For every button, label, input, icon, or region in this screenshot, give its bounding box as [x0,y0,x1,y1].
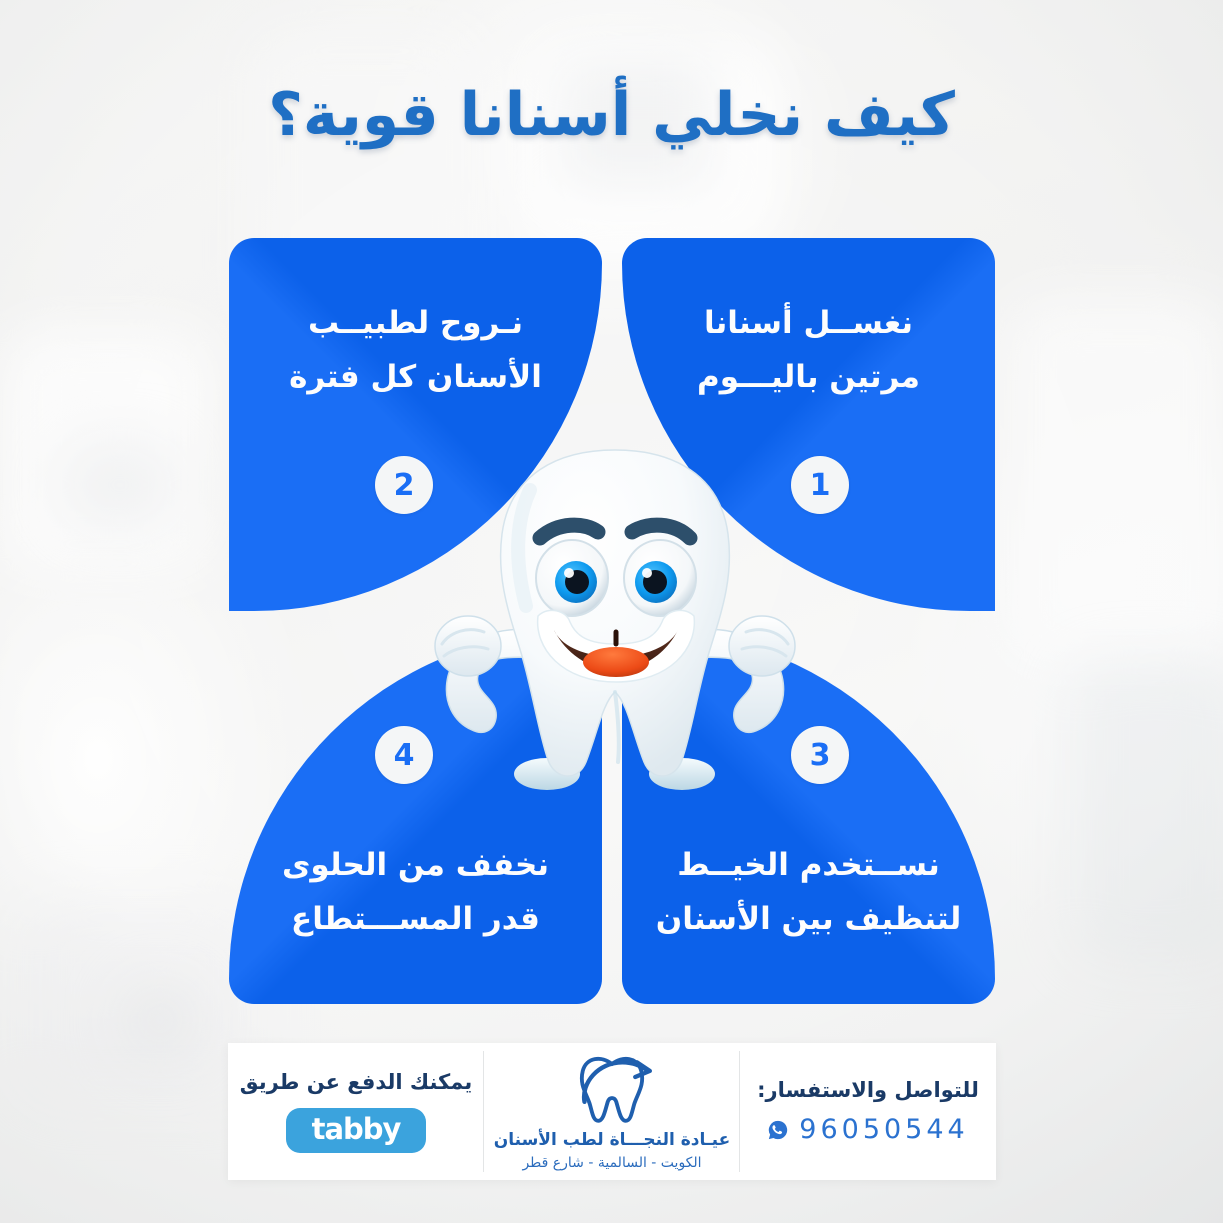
tip-line-2: الأسنان كل فترة [255,350,576,404]
footer-contact-section: للتواصل والاستفسار: 96050544 [740,1043,996,1180]
tip-number-badge-4: 4 [375,726,433,784]
tip-text-4: نخفف من الحلوى قدر المســـتطاع [229,838,602,947]
contact-phone-row[interactable]: 96050544 [767,1114,968,1145]
footer-clinic-section: عيـادة النجـــاة لطب الأسنان الكويت - ال… [484,1043,740,1180]
phone-number[interactable]: 96050544 [799,1114,968,1145]
tip-number-badge-2: 2 [375,456,433,514]
tip-text-3: نســتخدم الخيــط لتنظيف بين الأسنان [622,838,995,947]
payment-label: يمكنك الدفع عن طريق [240,1070,472,1094]
tip-line-2: لتنظيف بين الأسنان [648,892,969,946]
footer-bar: للتواصل والاستفسار: 96050544 عيـادة النج… [228,1043,996,1180]
page-title: كيف نخلي أسنانا قوية؟ [0,78,1223,153]
tip-line-1: نســتخدم الخيــط [648,838,969,892]
tip-line-2: مرتين باليـــوم [648,350,969,404]
tip-card-3[interactable]: نســتخدم الخيــط لتنظيف بين الأسنان [622,631,995,1004]
footer-payment-section: يمكنك الدفع عن طريق tabby [228,1043,484,1180]
tips-cluster: نغســل أسنانا مرتين باليـــوم نـروح لطبي… [229,238,995,1004]
tip-text-1: نغســل أسنانا مرتين باليـــوم [622,296,995,405]
clinic-name: عيـادة النجـــاة لطب الأسنان [494,1130,731,1150]
clinic-address: الكويت - السالمية - شارع قطر [522,1155,701,1171]
tip-number-badge-1: 1 [791,456,849,514]
tip-card-4[interactable]: نخفف من الحلوى قدر المســـتطاع [229,631,602,1004]
tip-card-2[interactable]: نـروح لطبيــب الأسنان كل فترة [229,238,602,611]
tip-line-1: نـروح لطبيــب [255,296,576,350]
contact-label: للتواصل والاستفسار: [757,1078,979,1102]
tip-line-1: نغســل أسنانا [648,296,969,350]
tooth-logo-icon [569,1052,655,1126]
whatsapp-icon [767,1119,789,1141]
tip-line-2: قدر المســـتطاع [255,892,576,946]
tip-line-1: نخفف من الحلوى [255,838,576,892]
tabby-logo[interactable]: tabby [286,1108,427,1153]
tip-text-2: نـروح لطبيــب الأسنان كل فترة [229,296,602,405]
tip-card-1[interactable]: نغســل أسنانا مرتين باليـــوم [622,238,995,611]
tip-number-badge-3: 3 [791,726,849,784]
poster-root: كيف نخلي أسنانا قوية؟ نغســل أسنانا مرتي… [0,0,1223,1223]
